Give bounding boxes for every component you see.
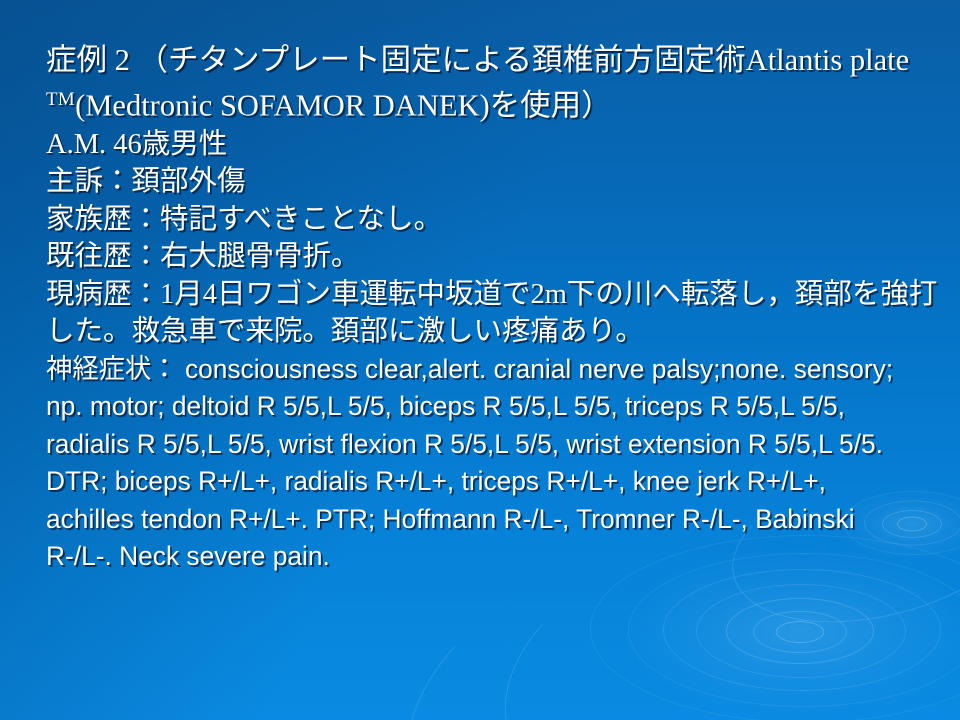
title-line-1: 症例 2 （チタンプレート固定による頚椎前方固定術Atlantis <box>46 43 842 77</box>
neurological-findings: 神経症状： consciousness clear,alert. cranial… <box>46 351 920 576</box>
present-illness: 現病歴：1月4日ワゴン車運転中坂道で2m下の川へ転落し，頚部を強打した。救急車で… <box>46 276 942 351</box>
slide-title: 症例 2 （チタンプレート固定による頚椎前方固定術Atlantis plate … <box>46 40 942 126</box>
title-plate-word: plate <box>850 43 917 77</box>
ripple-ring <box>696 584 906 678</box>
ripple-ring <box>753 611 847 653</box>
trademark-symbol: TM <box>46 89 75 110</box>
title-line-2-rest: (Medtronic SOFAMOR DANEK)を使用） <box>75 89 612 123</box>
patient-identifier: A.M. 46歳男性 <box>46 126 942 164</box>
neuro-findings-text: consciousness clear,alert. cranial nerve… <box>46 354 900 572</box>
family-history: 家族歴：特記すべきことなし。 <box>46 201 942 239</box>
slide-canvas: 症例 2 （チタンプレート固定による頚椎前方固定術Atlantis plate … <box>0 0 960 720</box>
chief-complaint: 主訴：頚部外傷 <box>46 163 942 201</box>
slide-body: 症例 2 （チタンプレート固定による頚椎前方固定術Atlantis plate … <box>46 40 942 576</box>
ripple-ring <box>776 621 824 643</box>
neuro-label: 神経症状： <box>46 354 178 384</box>
ripple-ring <box>726 598 874 664</box>
ripple-ring <box>628 553 960 707</box>
ripple-ring <box>663 569 941 691</box>
past-history: 既往歴：右大腿骨骨折。 <box>46 238 942 276</box>
